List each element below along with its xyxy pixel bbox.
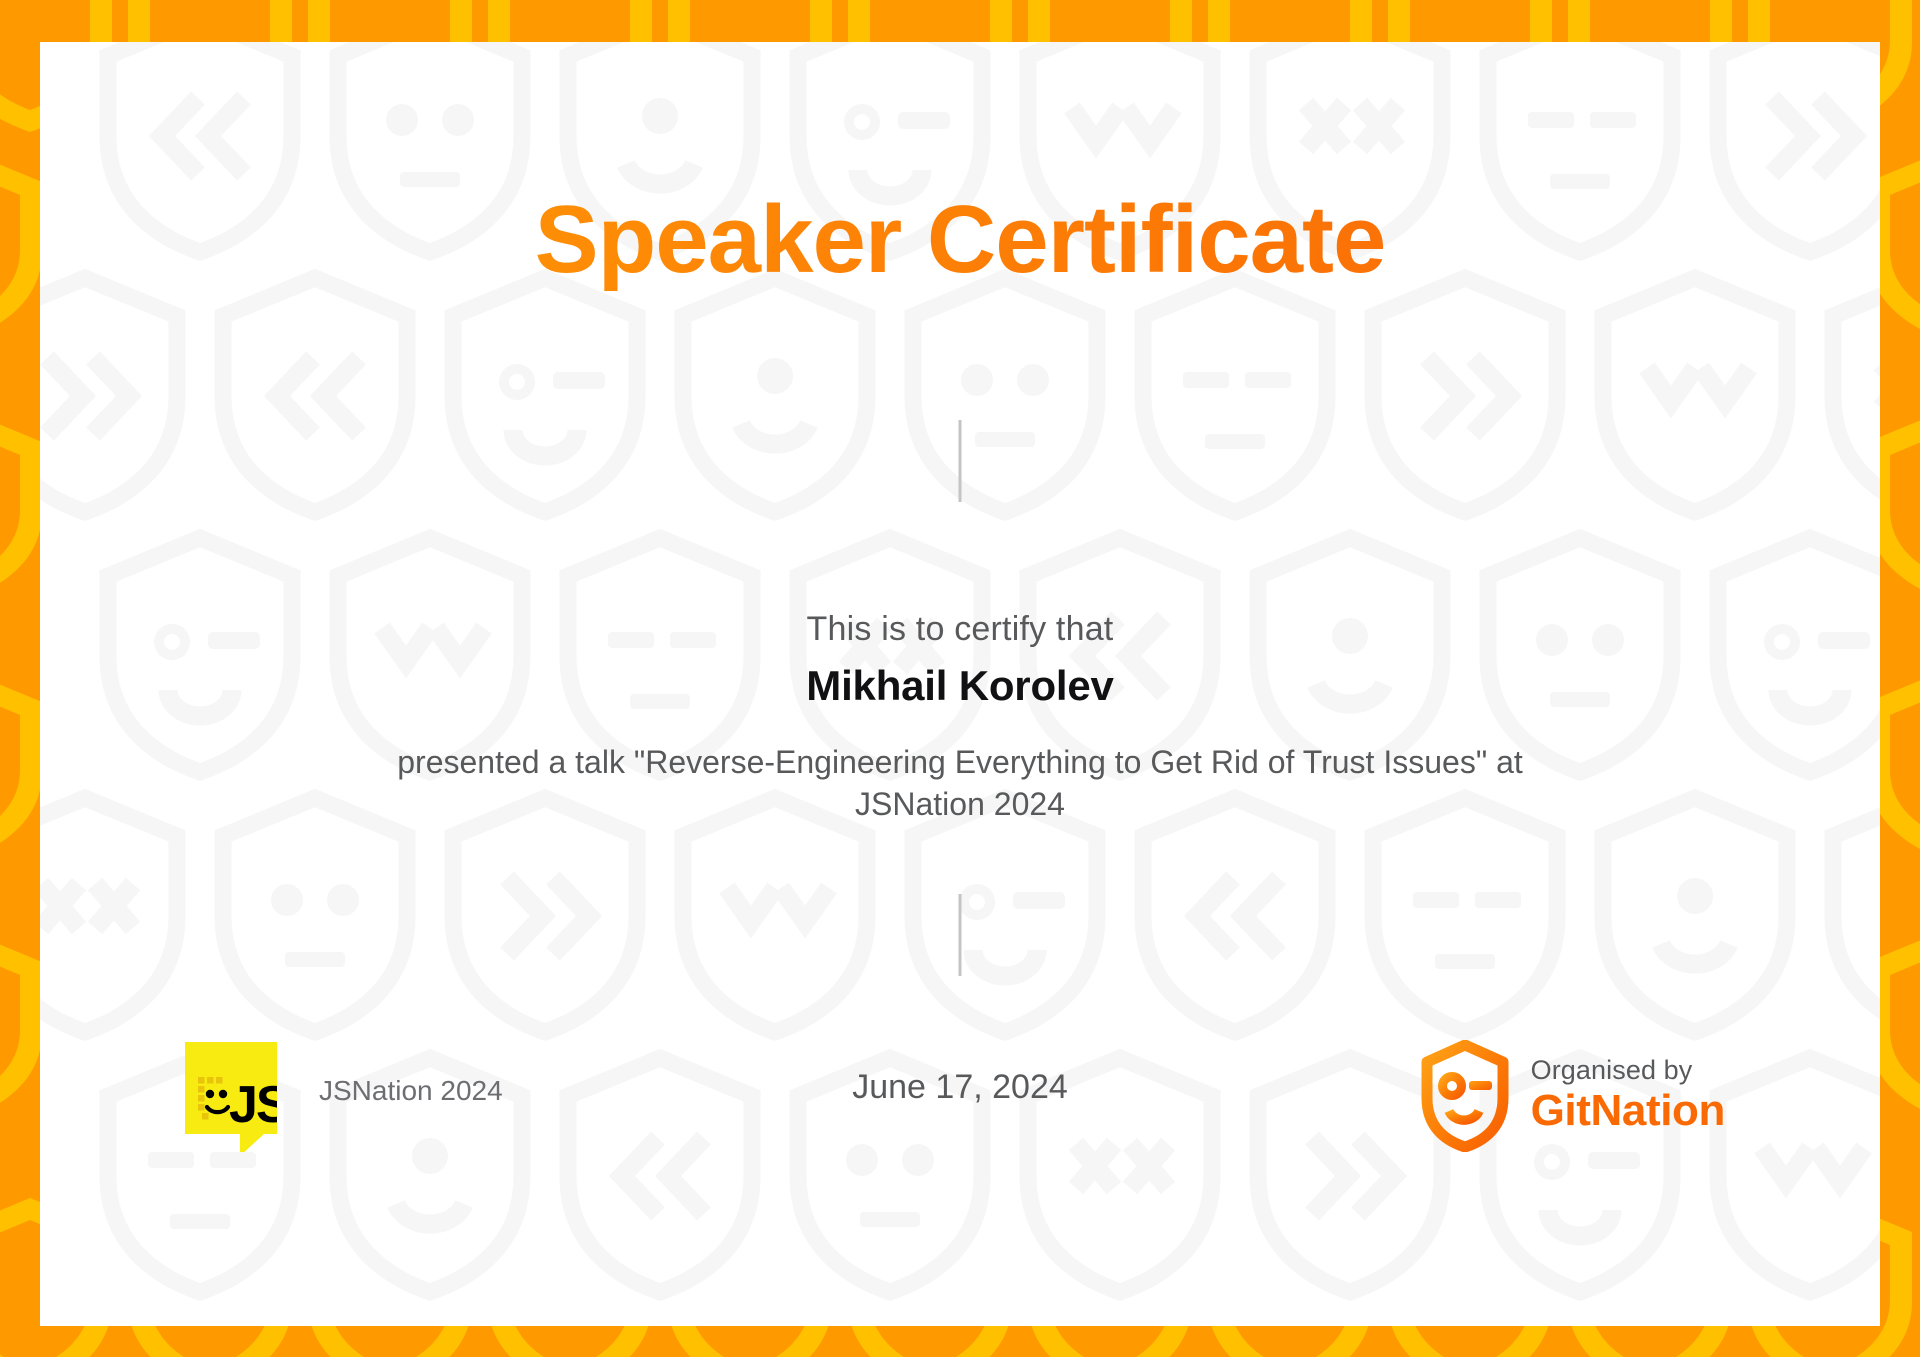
divider-bottom: [959, 894, 962, 976]
organised-by-label: Organised by: [1531, 1055, 1725, 1086]
talk-description: presented a talk "Reverse-Engineering Ev…: [210, 742, 1710, 825]
organiser-name: GitNation: [1531, 1086, 1725, 1137]
talk-line-2: JSNation 2024: [210, 784, 1710, 826]
footer-right-group: Organised by GitNation: [1421, 1040, 1725, 1152]
page-title: Speaker Certificate: [40, 190, 1880, 291]
certify-line: This is to certify that: [40, 610, 1880, 649]
gitnation-text-group: Organised by GitNation: [1531, 1055, 1725, 1137]
divider-top: [959, 420, 962, 502]
certificate-footer: JS JSNation 2024 June 17, 2024: [40, 1032, 1880, 1212]
gitnation-shield-icon: [1421, 1040, 1509, 1152]
certificate-card: Speaker Certificate This is to certify t…: [40, 42, 1880, 1326]
recipient-name: Mikhail Korolev: [40, 662, 1880, 710]
talk-line-1: presented a talk "Reverse-Engineering Ev…: [210, 742, 1710, 784]
certificate: Speaker Certificate This is to certify t…: [0, 0, 1920, 1357]
